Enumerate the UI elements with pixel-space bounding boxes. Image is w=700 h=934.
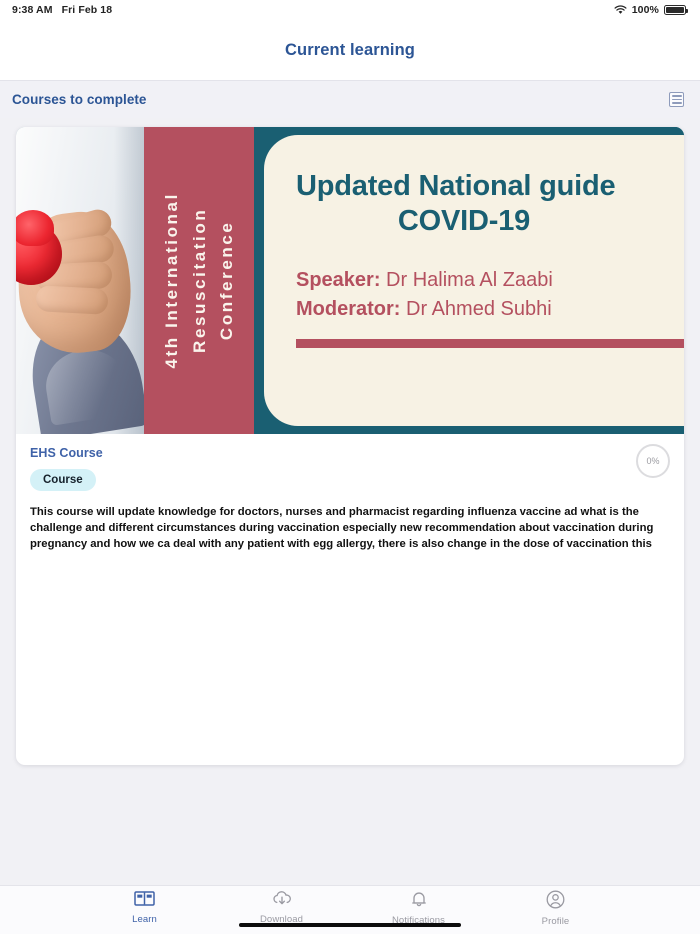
conference-line-2: Resuscitation — [185, 192, 213, 368]
banner-cream-panel: Updated National guide COVID-19 Speaker:… — [264, 135, 684, 426]
course-card-body: EHS Course Course 0% This course will up… — [16, 434, 684, 556]
tab-learn-label: Learn — [132, 914, 157, 925]
wifi-icon — [614, 5, 627, 15]
course-card[interactable]: 4th International Resuscitation Conferen… — [16, 127, 684, 765]
speaker-role-label: Speaker: — [296, 269, 381, 291]
course-progress-value: 0% — [646, 456, 659, 466]
course-list: 4th International Resuscitation Conferen… — [0, 118, 700, 885]
banner-people: Speaker: Dr Halima Al Zaabi Moderator: D… — [296, 266, 684, 325]
doctor-hand-holding-heart-photo — [16, 127, 144, 434]
banner-moderator-line: Moderator: Dr Ahmed Subhi — [296, 295, 684, 325]
section-title: Courses to complete — [12, 92, 146, 107]
status-date: Fri Feb 18 — [62, 4, 113, 16]
course-banner-image: 4th International Resuscitation Conferen… — [16, 127, 684, 434]
conference-title-strip: 4th International Resuscitation Conferen… — [144, 127, 254, 434]
book-icon — [134, 890, 155, 912]
banner-speaker-line: Speaker: Dr Halima Al Zaabi — [296, 266, 684, 296]
status-bar-left: 9:38 AM Fri Feb 18 — [12, 4, 112, 16]
battery-percent: 100% — [632, 4, 659, 16]
page-title: Current learning — [285, 41, 415, 60]
tab-profile[interactable]: Profile — [519, 890, 593, 927]
tab-profile-label: Profile — [542, 916, 570, 927]
course-progress-ring: 0% — [636, 444, 670, 478]
moderator-role-label: Moderator: — [296, 298, 400, 320]
banner-subheading: COVID-19 — [296, 204, 684, 239]
tab-download[interactable]: Download — [245, 890, 319, 925]
page-header: Current learning — [0, 20, 700, 80]
banner-heading: Updated National guide — [296, 170, 615, 202]
course-type-badge: Course — [30, 469, 96, 491]
bottom-tab-bar: Learn Download Notifications — [0, 885, 700, 934]
banner-divider-bar — [296, 339, 684, 348]
tab-notifications[interactable]: Notifications — [382, 890, 456, 926]
conference-line-3: Conference — [213, 192, 241, 368]
banner-heading-group: Updated National guide COVID-19 — [296, 169, 684, 240]
bell-icon — [410, 890, 428, 913]
banner-main-panel: Updated National guide COVID-19 Speaker:… — [254, 127, 684, 434]
speaker-name: Dr Halima Al Zaabi — [381, 269, 553, 291]
tab-learn[interactable]: Learn — [108, 890, 182, 925]
status-bar-right: 100% — [614, 4, 686, 16]
status-bar: 9:38 AM Fri Feb 18 100% — [0, 0, 700, 20]
conference-line-1: 4th International — [158, 192, 186, 368]
course-description: This course will update knowledge for do… — [30, 504, 670, 556]
person-circle-icon — [546, 890, 565, 914]
moderator-name: Dr Ahmed Subhi — [400, 298, 551, 320]
status-time: 9:38 AM — [12, 4, 53, 16]
list-view-icon[interactable] — [669, 92, 684, 107]
section-header: Courses to complete — [0, 80, 700, 118]
cloud-download-icon — [271, 890, 293, 912]
course-title: EHS Course — [30, 446, 670, 460]
battery-full-icon — [664, 5, 686, 15]
home-indicator — [239, 923, 461, 927]
